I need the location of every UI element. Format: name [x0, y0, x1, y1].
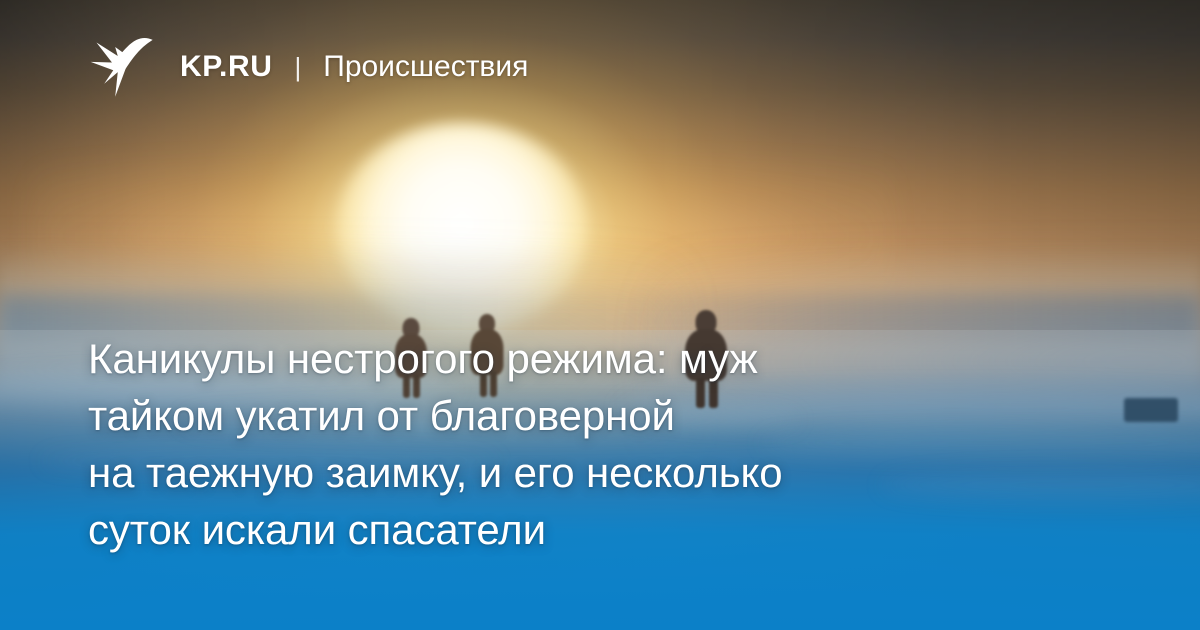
headline-line-2: тайком укатил от благоверной — [88, 387, 1048, 444]
brand-name[interactable]: KP.RU — [180, 52, 272, 82]
brand-header: KP.RU | Происшествия — [88, 36, 528, 98]
swallow-bird-logo-icon[interactable] — [88, 36, 154, 98]
headline-line-1: Каникулы нестрогого режима: муж — [88, 330, 1048, 387]
headline: Каникулы нестрогого режима: муж тайком у… — [88, 330, 1048, 558]
headline-line-4: суток искали спасатели — [88, 501, 1048, 558]
header-divider: | — [294, 54, 301, 80]
news-share-card: KP.RU | Происшествия Каникулы нестрогого… — [0, 0, 1200, 630]
rubric-label[interactable]: Происшествия — [323, 52, 528, 82]
headline-line-3: на таежную заимку, и его несколько — [88, 444, 1048, 501]
